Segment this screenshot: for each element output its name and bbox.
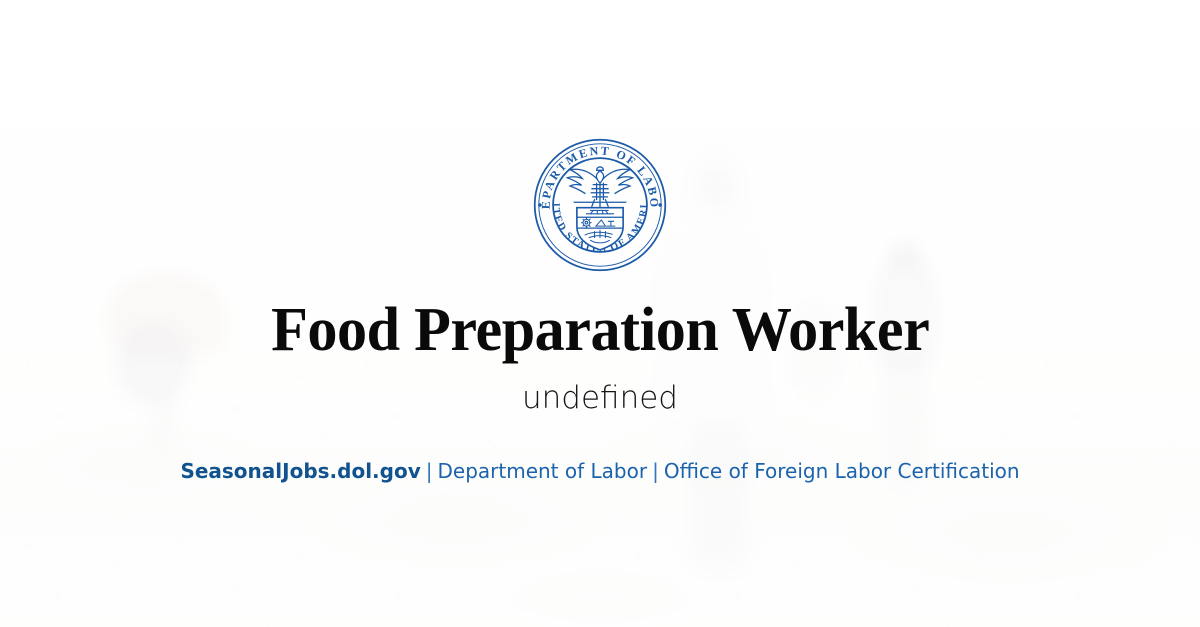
footer-office-label: Office of Foreign Labor Certification: [664, 459, 1020, 483]
footer-separator-1: |: [421, 459, 438, 483]
social-share-banner: DEPARTMENT OF LABOR UNITED STATES OF AME…: [0, 0, 1200, 627]
banner-content: DEPARTMENT OF LABOR UNITED STATES OF AME…: [0, 0, 1200, 627]
seal-eagle: [567, 167, 632, 208]
banner-footer: SeasonalJobs.dol.gov|Department of Labor…: [180, 461, 1019, 481]
footer-brand-link[interactable]: SeasonalJobs.dol.gov: [180, 459, 420, 483]
dol-seal-icon: DEPARTMENT OF LABOR UNITED STATES OF AME…: [532, 137, 668, 273]
footer-separator-2: |: [647, 459, 664, 483]
page-subtitle: undefined: [522, 383, 678, 414]
footer-agency-label: Department of Labor: [438, 459, 648, 483]
page-title: Food Preparation Worker: [271, 299, 929, 361]
